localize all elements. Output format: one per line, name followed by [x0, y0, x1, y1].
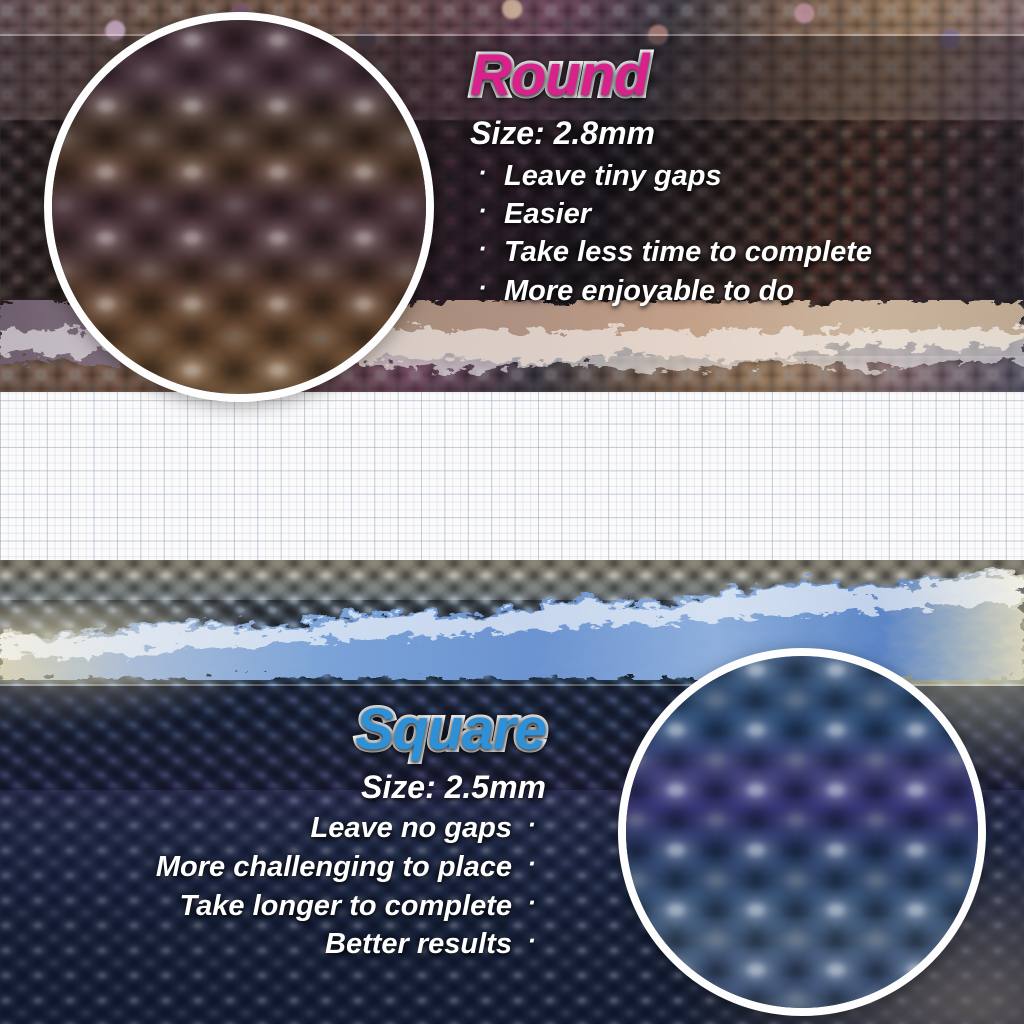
bullet-icon: ·: [527, 807, 536, 842]
infographic-canvas: MADE WITH DIAMONDS Should I choose Squar…: [0, 0, 1024, 1024]
bullet-icon: ·: [527, 885, 536, 920]
square-zoom-inset: [618, 648, 986, 1016]
list-item-label: Take longer to complete: [180, 890, 513, 922]
round-size-line: Size: 2.8mm: [470, 113, 1010, 153]
list-item: More challenging to place·: [0, 848, 546, 887]
bullet-icon: ·: [527, 923, 536, 958]
list-item-label: Take less time to complete: [504, 236, 872, 268]
list-item: Better results·: [0, 925, 546, 964]
list-item: ·Leave tiny gaps: [470, 157, 1010, 195]
list-item-label: Leave tiny gaps: [504, 160, 722, 192]
round-zoom-image: [44, 12, 434, 402]
list-item-label: Better results: [325, 928, 512, 960]
list-item: ·Take less time to complete: [470, 233, 1010, 271]
bullet-icon: ·: [478, 155, 487, 189]
round-info-block: Round Size: 2.8mm ·Leave tiny gaps ·Easi…: [470, 46, 1010, 310]
list-item: ·Easier: [470, 195, 1010, 233]
list-item: ·More enjoyable to do: [470, 272, 1010, 310]
list-item-label: More enjoyable to do: [504, 275, 794, 307]
bullet-icon: ·: [478, 193, 487, 227]
list-item-label: Easier: [504, 198, 591, 230]
square-heading: Square: [0, 700, 546, 761]
bullet-icon: ·: [478, 270, 487, 304]
square-zoom-image: [618, 648, 986, 1016]
list-item: Leave no gaps·: [0, 809, 546, 848]
square-benefit-list: Leave no gaps· More challenging to place…: [0, 809, 546, 964]
list-item-label: More challenging to place: [156, 851, 512, 883]
square-info-block: Square Size: 2.5mm Leave no gaps· More c…: [0, 700, 546, 964]
list-item-label: Leave no gaps: [311, 812, 512, 844]
list-item: Take longer to complete·: [0, 887, 546, 926]
bullet-icon: ·: [478, 231, 487, 265]
round-benefit-list: ·Leave tiny gaps ·Easier ·Take less time…: [470, 157, 1010, 310]
bullet-icon: ·: [527, 846, 536, 881]
round-zoom-inset: [44, 12, 434, 402]
round-heading: Round: [470, 46, 1010, 107]
square-size-line: Size: 2.5mm: [0, 767, 546, 807]
